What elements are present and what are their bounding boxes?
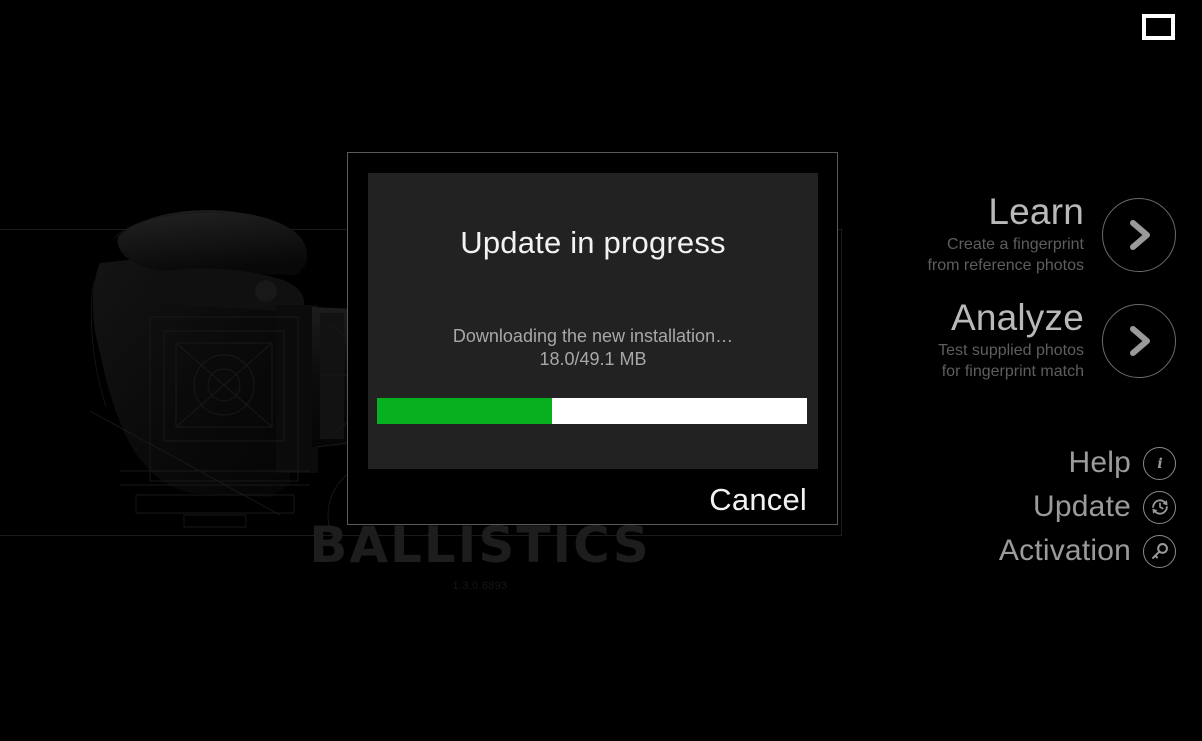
update-status-message: Downloading the new installation… <box>368 325 818 348</box>
update-dialog-panel: Update in progress Downloading the new i… <box>368 173 818 469</box>
info-icon: i <box>1150 453 1170 473</box>
refresh-history-icon <box>1149 496 1171 518</box>
action-analyze-subtitle-line1: Test supplied photos <box>938 340 1084 362</box>
chevron-right-icon <box>1119 215 1159 255</box>
brand-logo: BALLISTICS 1.3.0.6893 <box>290 520 670 592</box>
action-analyze-button[interactable] <box>1102 304 1176 378</box>
action-update-label: Update <box>1033 490 1131 524</box>
action-learn-subtitle: Create a fingerprint from reference phot… <box>927 234 1084 277</box>
svg-text:i: i <box>1157 456 1162 472</box>
title-bar <box>0 0 1202 56</box>
update-dialog-status: Downloading the new installation… 18.0/4… <box>368 325 818 371</box>
action-activation-label: Activation <box>999 534 1131 568</box>
action-learn-button[interactable] <box>1102 198 1176 272</box>
action-learn-subtitle-line2: from reference photos <box>927 255 1084 277</box>
chevron-right-icon <box>1119 321 1159 361</box>
action-help-button[interactable]: i <box>1143 447 1176 480</box>
action-analyze-subtitle: Test supplied photos for fingerprint mat… <box>938 340 1084 383</box>
action-update[interactable]: Update <box>836 490 1176 524</box>
app-root: BALLISTICS 1.3.0.6893 Learn Create a fin… <box>0 0 1202 741</box>
update-dialog: Update in progress Downloading the new i… <box>347 152 838 525</box>
update-status-bytes: 18.0/49.1 MB <box>368 348 818 371</box>
cancel-button[interactable]: Cancel <box>709 482 807 518</box>
brand-wordmark: BALLISTICS <box>290 520 670 570</box>
restore-window-icon[interactable] <box>1142 14 1175 40</box>
action-help[interactable]: Help i <box>836 446 1176 480</box>
action-learn-title: Learn <box>927 193 1084 232</box>
action-learn-subtitle-line1: Create a fingerprint <box>927 234 1084 256</box>
action-update-button[interactable] <box>1143 491 1176 524</box>
action-analyze-text: Analyze Test supplied photos for fingerp… <box>938 299 1084 383</box>
download-progress-fill <box>377 398 552 424</box>
key-icon <box>1149 541 1170 562</box>
secondary-actions: Help i Update <box>836 446 1176 578</box>
action-activation-button[interactable] <box>1143 535 1176 568</box>
action-help-label: Help <box>1069 446 1132 480</box>
app-version-label: 1.3.0.6893 <box>290 580 670 592</box>
action-activation[interactable]: Activation <box>836 534 1176 568</box>
update-dialog-title: Update in progress <box>368 225 818 261</box>
action-analyze-title: Analyze <box>938 299 1084 338</box>
action-learn-text: Learn Create a fingerprint from referenc… <box>927 193 1084 277</box>
download-progress-bar <box>377 398 807 424</box>
action-analyze-subtitle-line2: for fingerprint match <box>938 361 1084 383</box>
